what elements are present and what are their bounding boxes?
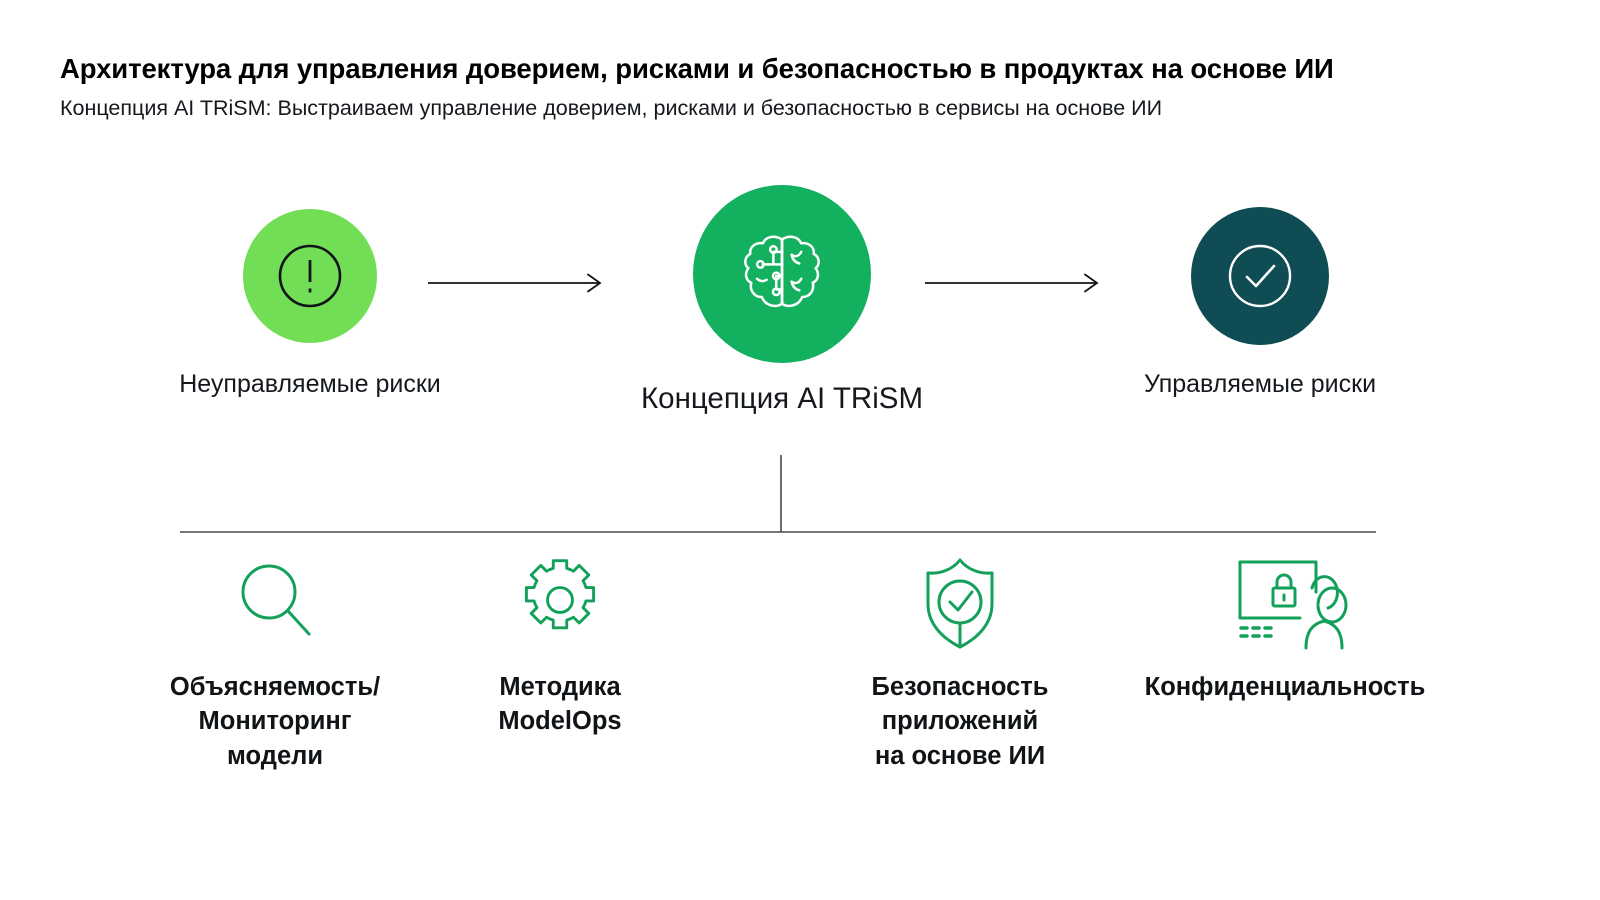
pillars-row: Объясняемость/ Мониторинг модели Методик…	[0, 552, 1600, 812]
managed-risks-bubble	[1191, 207, 1329, 345]
pillar-security-label: Безопасность приложений на основе ИИ	[790, 670, 1130, 773]
gear-icon	[512, 552, 608, 648]
magnifier-icon	[227, 552, 323, 648]
pillar-modelops-label: Методика ModelOps	[390, 670, 730, 739]
ai-brain-icon	[734, 226, 830, 322]
shield-check-icon	[912, 552, 1008, 652]
connector-svg	[0, 440, 1600, 550]
connector-lines	[0, 440, 1600, 550]
arrow-risks-to-trism	[428, 271, 608, 300]
flow-diagram: Неуправляемые риски	[0, 185, 1600, 445]
page-subtitle: Концепция AI TRiSM: Выстраиваем управлен…	[60, 95, 1520, 123]
ai-trism-label: Концепция AI TRiSM	[641, 382, 923, 416]
monitor-lock-person-icon	[1220, 552, 1350, 652]
check-circle-icon	[1222, 238, 1298, 314]
ai-trism-bubble	[693, 185, 871, 363]
pillar-privacy-label: Конфиденциальность	[1085, 670, 1485, 704]
arrow-trism-to-managed	[925, 271, 1105, 300]
page-title: Архитектура для управления доверием, рис…	[60, 52, 1520, 86]
shield-check-icon-wrap	[912, 552, 1008, 657]
uncontrolled-risks-label: Неуправляемые риски	[179, 370, 441, 399]
exclamation-circle-icon	[274, 240, 346, 312]
header: Архитектура для управления доверием, рис…	[60, 52, 1520, 123]
managed-risks-label: Управляемые риски	[1144, 370, 1376, 399]
arrow-right-icon	[428, 271, 608, 295]
monitor-lock-person-icon-wrap	[1220, 552, 1350, 657]
uncontrolled-risks-bubble	[243, 209, 377, 343]
gear-icon-wrap	[512, 552, 608, 653]
magnifier-icon-wrap	[227, 552, 323, 653]
arrow-right-icon	[925, 271, 1105, 295]
